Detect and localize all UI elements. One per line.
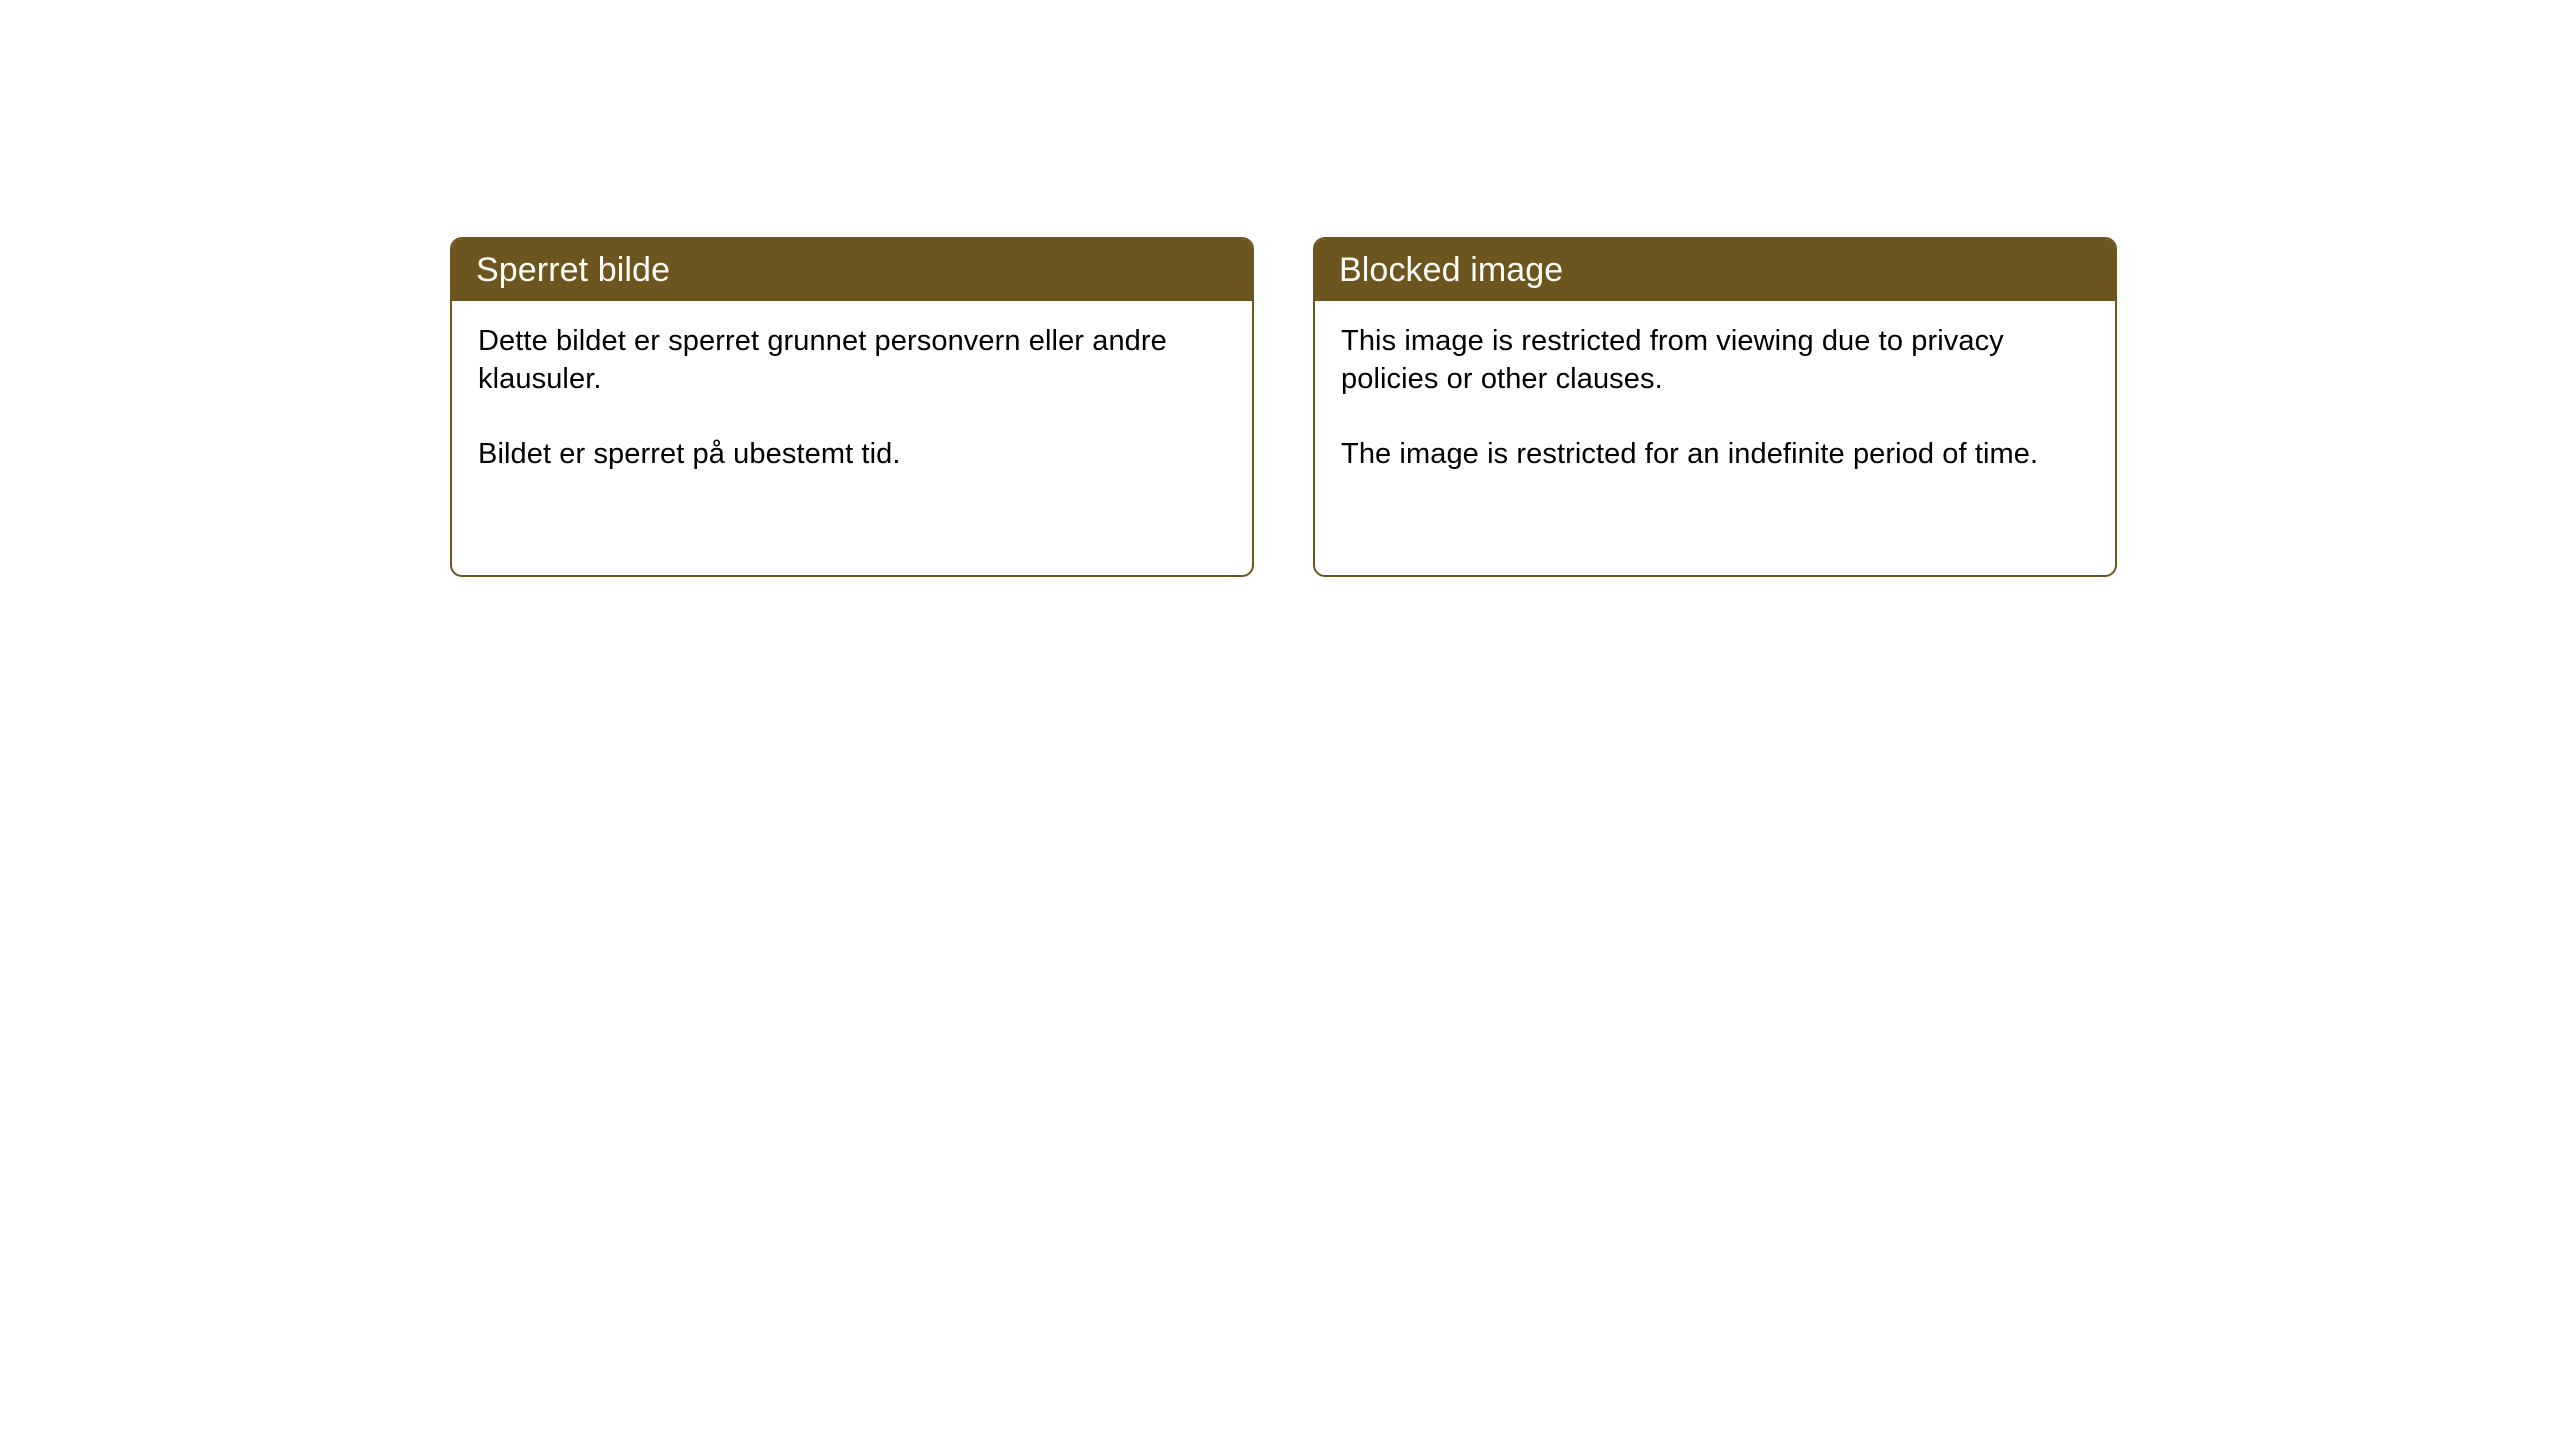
blocked-image-notice-norwegian: Sperret bilde Dette bildet er sperret gr…: [450, 237, 1254, 577]
page-canvas: Sperret bilde Dette bildet er sperret gr…: [0, 0, 2560, 1440]
panel-title-english: Blocked image: [1339, 253, 1563, 287]
panel-body-norwegian: Dette bildet er sperret grunnet personve…: [452, 301, 1252, 474]
panel-header-norwegian: Sperret bilde: [452, 239, 1252, 301]
panel-paragraph-reason-english: This image is restricted from viewing du…: [1341, 323, 2089, 398]
panel-paragraph-reason-norwegian: Dette bildet er sperret grunnet personve…: [478, 323, 1226, 398]
panel-paragraph-duration-norwegian: Bildet er sperret på ubestemt tid.: [478, 436, 1226, 474]
panel-header-english: Blocked image: [1315, 239, 2115, 301]
panel-paragraph-duration-english: The image is restricted for an indefinit…: [1341, 436, 2089, 474]
panel-title-norwegian: Sperret bilde: [476, 253, 670, 287]
panel-body-english: This image is restricted from viewing du…: [1315, 301, 2115, 474]
blocked-image-notice-english: Blocked image This image is restricted f…: [1313, 237, 2117, 577]
